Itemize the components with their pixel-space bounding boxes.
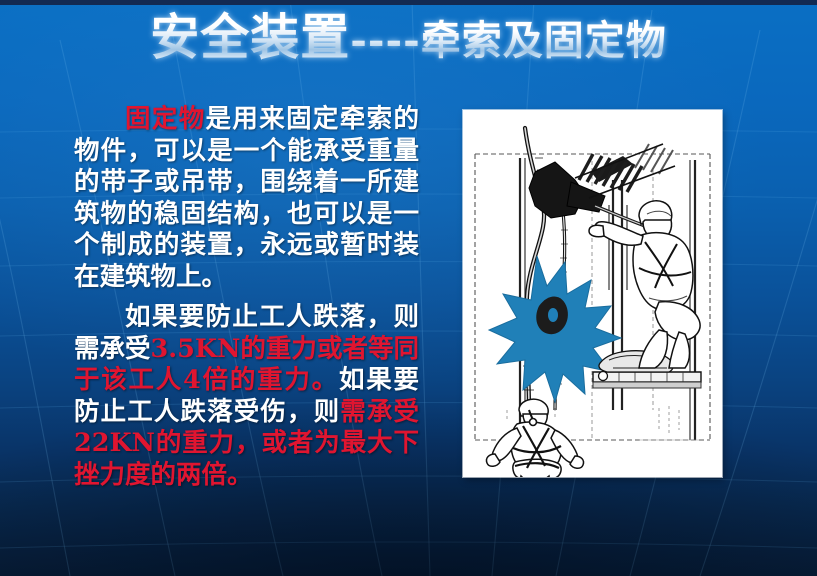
term-highlight: 固定物 — [125, 104, 206, 134]
paragraph-definition: 固定物是用来固定牵索的物件，可以是一个能承受重量的带子或吊带，围绕着一所建筑物的… — [74, 104, 419, 293]
slide-title: 安全装置----牵索及固定物 — [0, 6, 817, 72]
slide-title-sub: ----牵索及固定物 — [350, 17, 666, 64]
illustration-panel — [463, 110, 722, 477]
fall-arrest-anchor-illustration — [463, 110, 722, 477]
presentation-slide: 安全装置----牵索及固定物 安全装置----牵索及固定物 固定物是用来固定牵索… — [0, 0, 817, 576]
body-text-column: 固定物是用来固定牵索的物件，可以是一个能承受重量的带子或吊带，围绕着一所建筑物的… — [74, 104, 419, 491]
top-edge-strip — [0, 0, 817, 5]
paragraph-load-requirements: 如果要防止工人跌落，则需承受3.5KN的重力或者等同于该工人4倍的重力。如果要防… — [74, 302, 419, 491]
slide-title-main: 安全装置 — [150, 8, 350, 66]
